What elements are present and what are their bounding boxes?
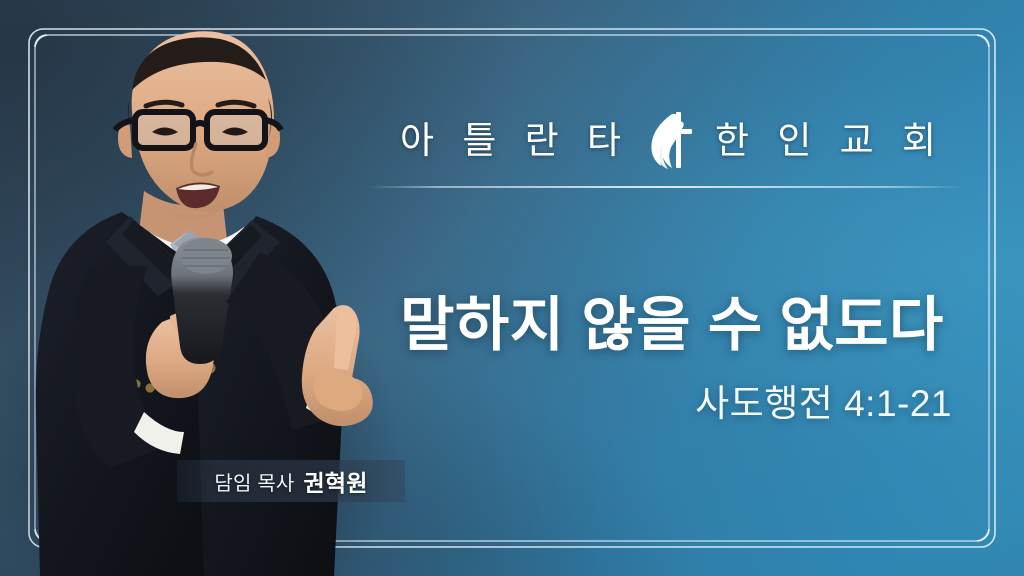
speaker-name-plate: 담임 목사 권혁원	[177, 460, 405, 502]
church-header: 아 틀 란 타 한 인 교 회	[372, 108, 964, 172]
scripture-reference: 사도행전 4:1-21	[380, 382, 964, 426]
speaker-name: 권혁원	[304, 464, 368, 498]
church-name-left: 아 틀 란 타	[391, 122, 630, 159]
speaker-role: 담임 목사	[214, 467, 294, 496]
sermon-title-slide: 아 틀 란 타 한 인 교 회 말하지 않을 수 없도다 사도행전 4:1-21…	[0, 0, 1024, 576]
sermon-title: 말하지 않을 수 없도다	[380, 292, 964, 358]
cross-and-flame-icon	[642, 110, 694, 170]
header-divider	[368, 186, 962, 188]
church-name-right: 한 인 교 회	[706, 122, 945, 159]
